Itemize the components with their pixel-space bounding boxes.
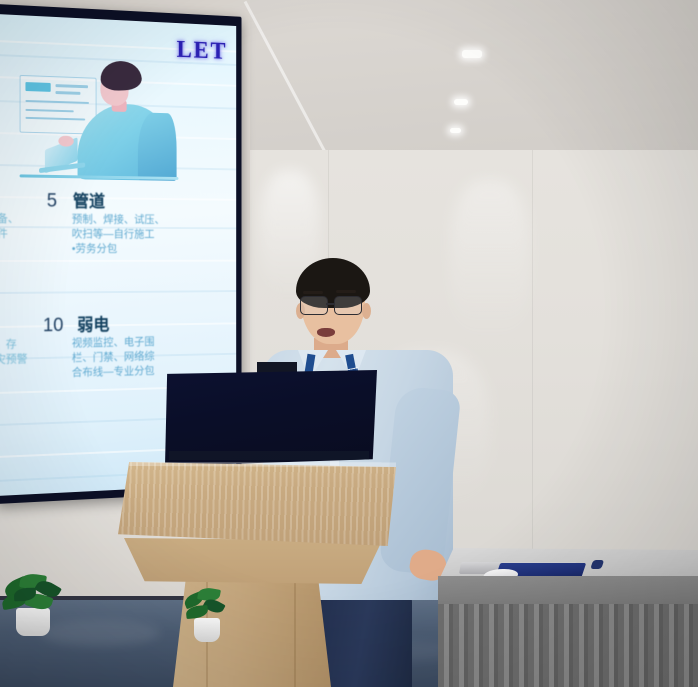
slide-section-heading: 弱电	[77, 316, 109, 335]
slide-section-number: 5	[47, 191, 57, 212]
eyeglasses-icon	[334, 296, 362, 315]
wood-grain	[118, 462, 396, 546]
slide-section-number: 10	[43, 315, 63, 336]
potted-plant-left	[2, 572, 82, 636]
potted-plant-center	[182, 586, 244, 642]
side-table[interactable]	[438, 548, 698, 687]
presenter-brow	[303, 291, 323, 294]
downlight-icon	[450, 128, 461, 133]
downlight-icon	[454, 99, 468, 105]
slide-section: 5 管道	[47, 187, 105, 213]
plant-pot	[194, 618, 220, 642]
lectern-apron	[124, 538, 382, 584]
slide-section: 10 弱电	[43, 311, 109, 338]
lectern[interactable]	[118, 452, 418, 687]
slide-section-left-fragment: 施、存 火灾预警 包	[0, 337, 31, 383]
presentation-room-photo: LET	[0, 0, 698, 687]
presenter-mouth	[317, 328, 335, 337]
table-cloth-band	[438, 576, 698, 606]
lectern-column-seam	[294, 580, 296, 687]
notebook-clasp-icon	[590, 560, 604, 569]
eyeglasses-icon	[300, 296, 328, 315]
tray[interactable]	[459, 562, 577, 574]
slide-logo: LET	[177, 37, 228, 66]
slide-section-body: 预制、焊接、试压、 吹扫等—自行施工 •劳务分包	[72, 213, 184, 257]
slide-section-heading: 管道	[73, 192, 105, 211]
slide-section-left-fragment: 设备、 内件 工	[0, 212, 31, 257]
eyeglasses-bridge	[326, 303, 335, 305]
table-cloth-pleated-skirt	[438, 604, 698, 687]
downlight-icon	[462, 50, 482, 58]
presenter-brow	[336, 290, 356, 293]
lectern-top[interactable]	[118, 462, 396, 546]
slide-illustration-icon	[20, 57, 181, 187]
presenter-ear	[362, 303, 371, 319]
plant-pot	[16, 608, 50, 636]
